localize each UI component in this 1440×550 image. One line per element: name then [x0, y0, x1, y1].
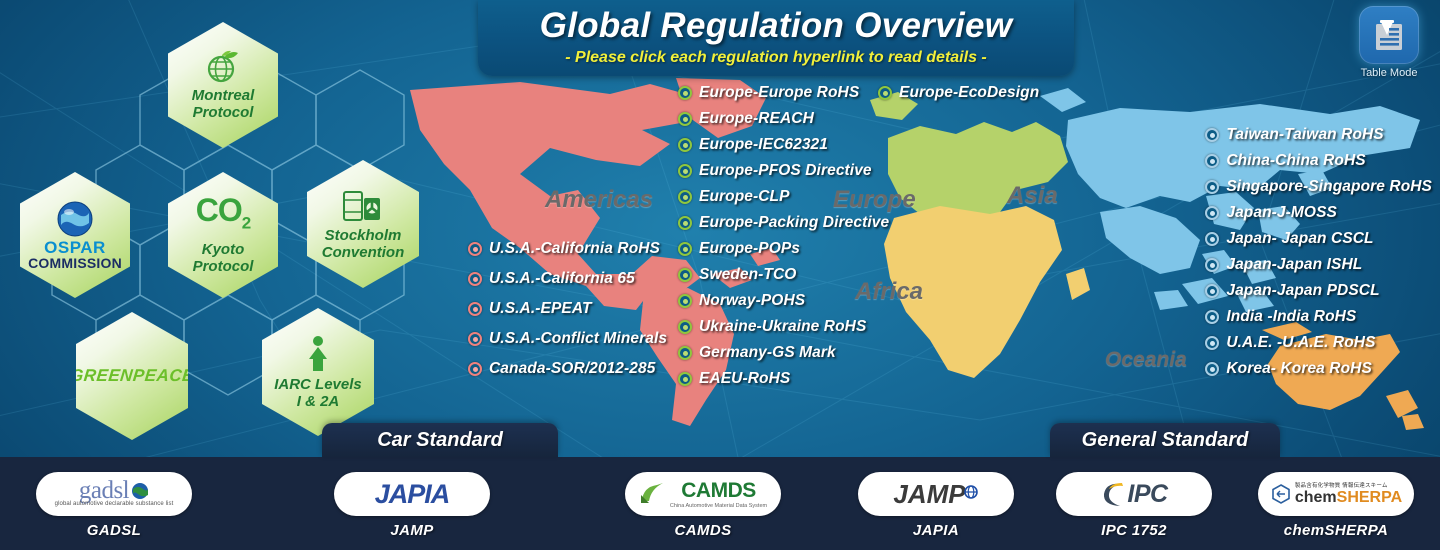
hex-label-line1: Stockholm	[325, 227, 402, 244]
regulation-label: Europe-Packing Directive	[699, 214, 889, 232]
bullet-icon	[1205, 284, 1219, 298]
regulation-link-europe-4[interactable]: Europe-CLP	[678, 188, 889, 206]
standard-caption-camds: CAMDS	[625, 522, 781, 539]
gadsl-wordmark: gadsl	[79, 481, 129, 501]
regulation-link-americas-3[interactable]: U.S.A.-Conflict Minerals	[468, 330, 667, 348]
bullet-icon	[678, 138, 692, 152]
jamp-wordmark-text: JAMP	[893, 479, 965, 510]
regulation-label: Japan- Japan CSCL	[1226, 230, 1373, 248]
bullet-icon	[1205, 154, 1219, 168]
standard-logo-ipc1752[interactable]: IPC IPC 1752	[1056, 472, 1212, 539]
bullet-icon	[1205, 128, 1219, 142]
regulation-label: India -India RoHS	[1226, 308, 1356, 326]
earth-globe-icon	[55, 199, 95, 239]
regulation-link-europe_extra-0[interactable]: Europe-EcoDesign	[878, 84, 1039, 102]
bullet-icon	[1205, 362, 1219, 376]
ipc-swoosh-icon	[1100, 480, 1126, 508]
standard-caption-gadsl: GADSL	[36, 522, 192, 539]
bullet-icon	[678, 268, 692, 282]
gadsl-subtitle: global automotive declarable substance l…	[55, 501, 174, 507]
tab-general-standard-label: General Standard	[1082, 429, 1249, 452]
jamp-logo-plate: JAMP	[858, 472, 1014, 516]
bullet-icon	[678, 320, 692, 334]
bullet-icon	[1205, 258, 1219, 272]
regulation-label: Norway-POHS	[699, 292, 805, 310]
regulation-label: Japan-J-MOSS	[1226, 204, 1337, 222]
regulation-link-europe-9[interactable]: Ukraine-Ukraine RoHS	[678, 318, 889, 336]
tab-car-standard[interactable]: Car Standard	[322, 423, 558, 457]
regulation-link-europe-0[interactable]: Europe-Europe RoHS	[678, 84, 889, 102]
hazard-barrels-icon	[341, 188, 385, 224]
regulation-link-asia-4[interactable]: Japan- Japan CSCL	[1205, 230, 1432, 248]
person-icon	[305, 335, 331, 373]
standard-logo-chemsherpa[interactable]: 製品含有化学物質 情報伝達スキーム chemSHERPA chemSHERPA	[1258, 472, 1414, 539]
hex-iarc-levels[interactable]: IARC LevelsI & 2A	[262, 308, 374, 436]
bullet-icon	[1205, 336, 1219, 350]
bullet-icon	[1205, 180, 1219, 194]
hex-greenpeace[interactable]: GREENPEACE	[76, 312, 188, 440]
standard-caption-chemsherpa: chemSHERPA	[1258, 522, 1414, 539]
bullet-icon	[678, 190, 692, 204]
hex-label-ospar-line2: COMMISSION	[28, 256, 122, 271]
bullet-icon	[468, 332, 482, 346]
regulation-label: Ukraine-Ukraine RoHS	[699, 318, 866, 336]
regulation-label: Singapore-Singapore RoHS	[1226, 178, 1432, 196]
bullet-icon	[678, 164, 692, 178]
chemsherpa-subtitle: 製品含有化学物質 情報伝達スキーム	[1295, 481, 1388, 489]
page-subtitle: - Please click each regulation hyperlink…	[478, 48, 1074, 68]
regulation-link-asia-0[interactable]: Taiwan-Taiwan RoHS	[1205, 126, 1432, 144]
chemsherpa-wordmark: chemSHERPA	[1295, 489, 1402, 507]
hex-label-line1: IARC Levels	[274, 376, 362, 393]
regulation-label: Europe-REACH	[699, 110, 814, 128]
gadsl-globe-icon	[131, 482, 149, 500]
bullet-icon	[678, 216, 692, 230]
map-region-europe	[870, 92, 1068, 220]
tab-general-standard[interactable]: General Standard	[1050, 423, 1280, 457]
regulation-label: U.S.A.-EPEAT	[489, 300, 592, 318]
regulation-label: U.S.A.-California RoHS	[489, 240, 660, 258]
regulation-label: Japan-Japan ISHL	[1226, 256, 1362, 274]
regulation-label: Taiwan-Taiwan RoHS	[1226, 126, 1383, 144]
regulation-label: EAEU-RoHS	[699, 370, 790, 388]
bullet-icon	[468, 302, 482, 316]
regulation-label: Europe-IEC62321	[699, 136, 828, 154]
bullet-icon	[468, 242, 482, 256]
regulation-link-americas-2[interactable]: U.S.A.-EPEAT	[468, 300, 667, 318]
regulation-link-europe-6[interactable]: Europe-POPs	[678, 240, 889, 258]
camds-subtitle: China Automotive Material Data System	[670, 503, 767, 509]
regulation-label: Canada-SOR/2012-285	[489, 360, 655, 378]
regulation-list-europe-extra: Europe-EcoDesign	[878, 84, 1039, 105]
regulation-label: Sweden-TCO	[699, 266, 796, 284]
standard-logo-jamp[interactable]: JAPIA JAMP	[334, 472, 490, 539]
bullet-icon	[878, 86, 892, 100]
japia-logo-plate: JAPIA	[334, 472, 490, 516]
bullet-icon	[468, 272, 482, 286]
regulation-link-asia-7[interactable]: India -India RoHS	[1205, 308, 1432, 326]
hex-stockholm-convention[interactable]: StockholmConvention	[307, 160, 419, 288]
standard-logo-camds[interactable]: CAMDS China Automotive Material Data Sys…	[625, 472, 781, 539]
globe-leaf-icon	[205, 50, 241, 84]
agreements-hex-cluster: MontrealProtocol OSPAR COMMISSION CO2 Ky…	[0, 0, 440, 440]
regulation-link-europe-1[interactable]: Europe-REACH	[678, 110, 889, 128]
hex-kyoto-protocol[interactable]: CO2 KyotoProtocol	[168, 172, 278, 298]
regulation-list-europe: Europe-Europe RoHSEurope-REACHEurope-IEC…	[678, 84, 889, 396]
chemsherpa-logo-plate: 製品含有化学物質 情報伝達スキーム chemSHERPA	[1258, 472, 1414, 516]
bullet-icon	[1205, 206, 1219, 220]
jamp-wordmark: JAMP	[893, 479, 978, 510]
camds-logo-plate: CAMDS China Automotive Material Data Sys…	[625, 472, 781, 516]
hex-label-ospar-line1: OSPAR	[44, 239, 106, 256]
co2-icon: CO2	[196, 195, 250, 238]
table-mode-label: Table Mode	[1350, 67, 1428, 79]
japia-wordmark: JAPIA	[375, 479, 450, 510]
ipc-wordmark: IPC	[1127, 480, 1167, 509]
regulation-link-europe-11[interactable]: EAEU-RoHS	[678, 370, 889, 388]
regulation-label: U.S.A.-California 65	[489, 270, 635, 288]
page-title-panel: Global Regulation Overview - Please clic…	[478, 0, 1074, 76]
standard-logo-japia[interactable]: JAMP JAPIA	[858, 472, 1014, 539]
bullet-icon	[678, 86, 692, 100]
regulation-label: Europe-POPs	[699, 240, 800, 258]
hex-label-line1: Montreal	[192, 87, 255, 104]
regulation-label: Europe-CLP	[699, 188, 790, 206]
ipc-logo-plate: IPC	[1056, 472, 1212, 516]
standard-logo-gadsl[interactable]: gadsl global automotive declarable subst…	[36, 472, 192, 539]
regulation-link-europe-7[interactable]: Sweden-TCO	[678, 266, 889, 284]
hex-label-line1: Kyoto	[202, 241, 245, 258]
hex-label-line2: Protocol	[193, 104, 254, 121]
regulation-label: Europe-PFOS Directive	[699, 162, 872, 180]
bullet-icon	[468, 362, 482, 376]
bullet-icon	[1205, 232, 1219, 246]
regulation-overview-page: Americas Europe Africa Asia Oceania	[0, 0, 1440, 550]
regulation-label: Japan-Japan PDSCL	[1226, 282, 1379, 300]
regulation-link-europe-2[interactable]: Europe-IEC62321	[678, 136, 889, 154]
regulation-link-europe-5[interactable]: Europe-Packing Directive	[678, 214, 889, 232]
tab-car-standard-label: Car Standard	[377, 429, 503, 452]
map-region-africa	[884, 206, 1090, 378]
regulation-label: U.A.E. -U.A.E. RoHS	[1226, 334, 1375, 352]
page-title: Global Regulation Overview	[478, 4, 1074, 48]
regulation-label: Korea- Korea RoHS	[1226, 360, 1372, 378]
hex-label-line2: Protocol	[193, 258, 254, 275]
jamp-globe-icon	[963, 485, 979, 503]
regulation-list-americas: U.S.A.-California RoHSU.S.A.-California …	[468, 240, 667, 390]
regulation-label: Europe-EcoDesign	[899, 84, 1039, 102]
standard-caption-ipc1752: IPC 1752	[1056, 522, 1212, 539]
regulation-label: Europe-Europe RoHS	[699, 84, 859, 102]
regulation-link-asia-9[interactable]: Korea- Korea RoHS	[1205, 360, 1432, 378]
regulation-link-americas-4[interactable]: Canada-SOR/2012-285	[468, 360, 667, 378]
greenpeace-wordmark: GREENPEACE	[69, 366, 195, 386]
regulation-link-americas-1[interactable]: U.S.A.-California 65	[468, 270, 667, 288]
regulation-link-europe-10[interactable]: Germany-GS Mark	[678, 344, 889, 362]
regulation-link-europe-8[interactable]: Norway-POHS	[678, 292, 889, 310]
standard-caption-japia: JAPIA	[858, 522, 1014, 539]
table-mode-button[interactable]: Table Mode	[1350, 6, 1428, 79]
bullet-icon	[678, 112, 692, 126]
bullet-icon	[678, 242, 692, 256]
regulation-link-asia-2[interactable]: Singapore-Singapore RoHS	[1205, 178, 1432, 196]
hex-label-line2: Convention	[322, 244, 405, 261]
regulation-link-asia-8[interactable]: U.A.E. -U.A.E. RoHS	[1205, 334, 1432, 352]
camds-arrow-icon	[639, 481, 667, 507]
table-document-icon[interactable]	[1359, 6, 1419, 64]
regulation-link-asia-5[interactable]: Japan-Japan ISHL	[1205, 256, 1432, 274]
chemsherpa-hexagon-icon	[1270, 483, 1292, 505]
bullet-icon	[678, 346, 692, 360]
regulation-label: Germany-GS Mark	[699, 344, 836, 362]
bullet-icon	[678, 372, 692, 386]
regulation-link-europe-3[interactable]: Europe-PFOS Directive	[678, 162, 889, 180]
bullet-icon	[678, 294, 692, 308]
camds-wordmark: CAMDS	[681, 479, 756, 503]
co2-symbol: CO	[196, 192, 242, 228]
standard-caption-jamp: JAMP	[334, 522, 490, 539]
co2-subscript: 2	[242, 213, 250, 232]
hex-label-line2: I & 2A	[297, 393, 340, 410]
hex-montreal-protocol[interactable]: MontrealProtocol	[168, 22, 278, 148]
regulation-link-asia-6[interactable]: Japan-Japan PDSCL	[1205, 282, 1432, 300]
gadsl-logo-plate: gadsl global automotive declarable subst…	[36, 472, 192, 516]
regulation-link-americas-0[interactable]: U.S.A.-California RoHS	[468, 240, 667, 258]
regulation-label: U.S.A.-Conflict Minerals	[489, 330, 667, 348]
regulation-list-asia: Taiwan-Taiwan RoHSChina-China RoHSSingap…	[1205, 126, 1432, 386]
regulation-label: China-China RoHS	[1226, 152, 1365, 170]
bullet-icon	[1205, 310, 1219, 324]
regulation-link-asia-3[interactable]: Japan-J-MOSS	[1205, 204, 1432, 222]
hex-ospar-commission[interactable]: OSPAR COMMISSION	[20, 172, 130, 298]
regulation-link-asia-1[interactable]: China-China RoHS	[1205, 152, 1432, 170]
